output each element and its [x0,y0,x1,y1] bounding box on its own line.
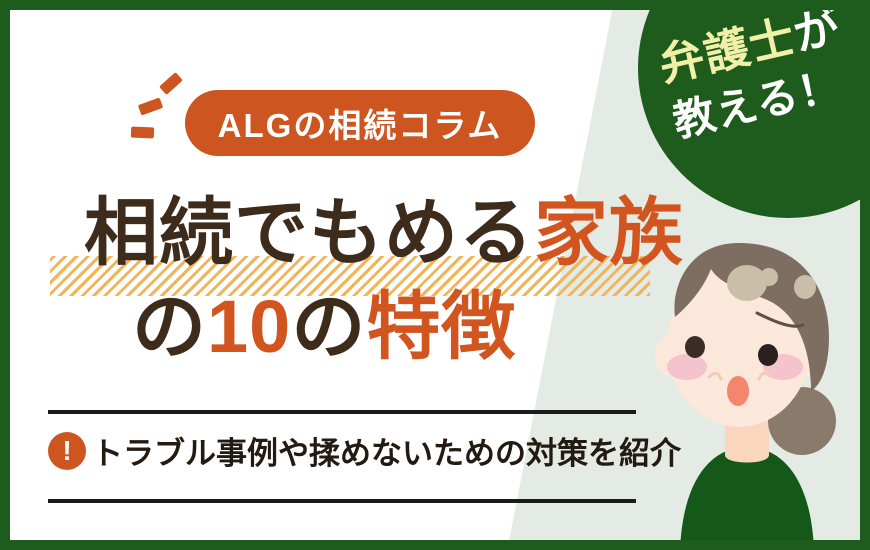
character-eye-left [685,336,705,358]
headline-line2-number: 10 [207,285,291,368]
subtitle-row: ! トラブル事例や揉めないための対策を紹介 [48,428,681,473]
headline-line1-dark: 相続でもめる [84,191,534,274]
exclamation-glyph: ! [62,437,71,465]
exclamation-icon: ! [48,432,86,470]
character-hair-highlight [760,268,778,286]
character-hair-highlight [727,265,767,301]
subtitle-text: トラブル事例や揉めないための対策を紹介 [92,428,681,473]
headline: 相続でもめる家族 の10の特徴 [10,196,670,364]
column-badge-label: ALGの相続コラム [218,99,503,147]
sparkle-dash-icon [131,127,154,139]
banner-inner-panel: ALGの相続コラム 相続でもめる家族 の10の特徴 ! トラブル事例や揉めないた… [10,10,860,540]
headline-line-2: の10の特徴 [132,290,670,364]
column-badge: ALGの相続コラム [185,90,535,156]
subtitle-rule-top [48,410,636,414]
subtitle-rule-bottom [48,499,636,503]
banner-root: ALGの相続コラム 相続でもめる家族 の10の特徴 ! トラブル事例や揉めないた… [0,0,870,550]
character-hair-highlight [794,275,816,299]
character-blush-left [667,354,707,380]
character-eye-right [758,344,778,366]
headline-line-1: 相続でもめる家族 [84,196,670,270]
lawyer-badge-text: 弁護士が 教える！ [638,10,860,218]
character-neck [725,421,769,463]
headline-line2-dark-1: の [132,285,207,368]
headline-line2-dark-2: の [291,285,366,368]
headline-line2-orange: 特徴 [366,285,516,368]
woman-character-illustration [625,225,860,540]
character-mouth [727,376,749,406]
